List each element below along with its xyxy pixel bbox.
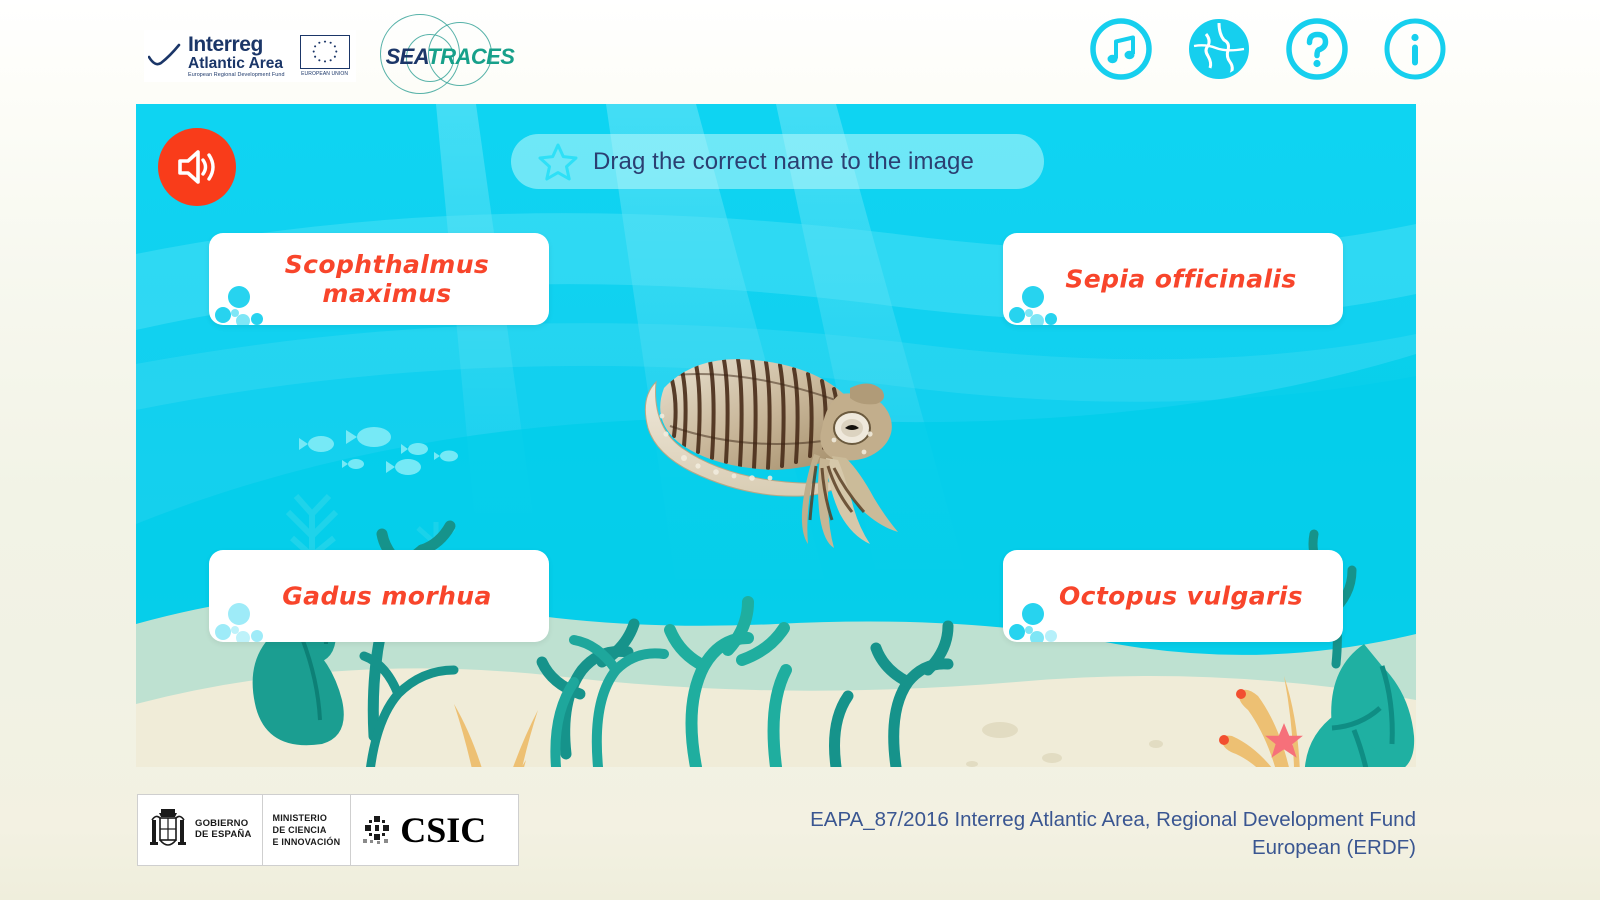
weed-tip-dot (1236, 689, 1246, 699)
gobierno-de-espana-logo: GOBIERNO DE ESPAÑA (138, 795, 262, 865)
funding-credit: EAPA_87/2016 Interreg Atlantic Area, Reg… (776, 806, 1416, 861)
interreg-swoosh-icon (148, 43, 182, 69)
answer-card-label: Gadus morhua (209, 582, 549, 611)
answer-card-gadus[interactable]: Gadus morhua (209, 550, 549, 642)
game-stage: Drag the correct name to the image (136, 104, 1416, 767)
interreg-title: Interreg (188, 34, 285, 55)
funder-logo-bar: GOBIERNO DE ESPAÑA MINISTERIO DE CIENCIA… (137, 794, 519, 866)
ministerio-line-3: E INNOVACIÓN (273, 836, 341, 848)
seatraces-logo: SEATRACES (378, 18, 508, 94)
pebble (1042, 753, 1062, 763)
page-footer: GOBIERNO DE ESPAÑA MINISTERIO DE CIENCIA… (0, 780, 1600, 900)
help-icon[interactable] (1284, 16, 1350, 82)
answer-card-label: Scophthalmus maximus (209, 250, 549, 308)
instruction-text: Drag the correct name to the image (593, 148, 974, 176)
answer-card-scophthalmus[interactable]: Scophthalmus maximus (209, 233, 549, 325)
globe-icon[interactable] (1186, 16, 1252, 82)
gobierno-line-2: DE ESPAÑA (195, 830, 252, 841)
answer-card-sepia[interactable]: Sepia officinalis (1003, 233, 1343, 325)
eu-flag-block: EUROPEAN UNION (300, 35, 350, 77)
music-icon[interactable] (1088, 16, 1154, 82)
page-header: Interreg Atlantic Area European Regional… (0, 0, 1600, 100)
interreg-logo: Interreg Atlantic Area European Regional… (144, 30, 356, 83)
funding-credit-line-2: European (ERDF) (776, 834, 1416, 862)
csic-wordmark: CSIC (400, 809, 486, 851)
pebble (1149, 740, 1163, 748)
answer-card-label: Octopus vulgaris (1003, 582, 1343, 611)
ministerio-logo: MINISTERIO DE CIENCIA E INNOVACIÓN (262, 795, 351, 865)
instruction-banner: Drag the correct name to the image (511, 134, 1044, 189)
seatraces-sea: SEA (386, 44, 428, 69)
eu-flag-icon (300, 35, 350, 69)
pebble (966, 761, 978, 767)
pebble (982, 722, 1018, 738)
eu-stars-icon (301, 36, 349, 68)
eu-caption: EUROPEAN UNION (300, 71, 350, 77)
logo-group: Interreg Atlantic Area European Regional… (144, 18, 508, 94)
interreg-fund-line: European Regional Development Fund (188, 73, 285, 78)
header-icon-bar (1088, 16, 1448, 82)
csic-mark-icon (361, 814, 393, 846)
weed-tip-dot (1219, 735, 1229, 745)
answer-card-label: Sepia officinalis (1003, 265, 1343, 294)
seatraces-traces: TRACES (427, 44, 514, 69)
ministerio-line-1: MINISTERIO (273, 812, 341, 824)
answer-card-octopus[interactable]: Octopus vulgaris (1003, 550, 1343, 642)
cuttlefish-image (626, 336, 936, 551)
interreg-subtitle: Atlantic Area (188, 56, 285, 72)
ministerio-line-2: DE CIENCIA (273, 824, 341, 836)
star-outline-icon (537, 141, 579, 183)
csic-logo: CSIC (350, 795, 496, 865)
spain-coat-of-arms-icon (148, 804, 188, 856)
audio-play-button[interactable] (158, 128, 236, 206)
info-icon[interactable] (1382, 16, 1448, 82)
speaker-icon (176, 148, 218, 186)
funding-credit-line-1: EAPA_87/2016 Interreg Atlantic Area, Reg… (776, 806, 1416, 834)
